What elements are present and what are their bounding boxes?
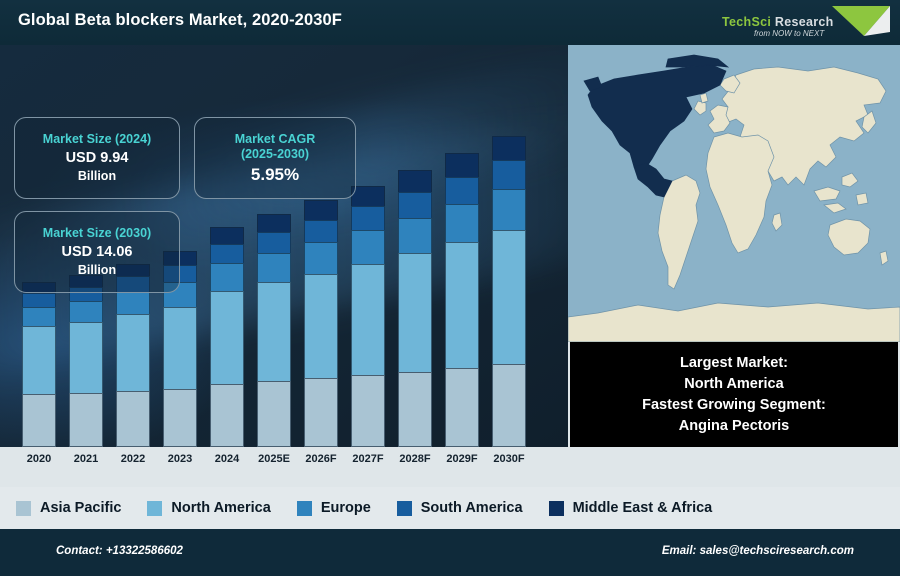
- bar-2025E: [257, 214, 291, 447]
- market-size-2030-box: Market Size (2030) USD 14.06 Billion: [14, 211, 180, 293]
- bar-segment-asia-pacific: [257, 381, 291, 447]
- bar-segment-middle-east-africa: [445, 153, 479, 176]
- bar-segment-south-america: [304, 220, 338, 243]
- bar-segment-asia-pacific: [210, 384, 244, 447]
- infographic-page: Global Beta blockers Market, 2020-2030F …: [0, 0, 900, 576]
- bar-segment-europe: [116, 292, 150, 314]
- bar-segment-europe: [304, 242, 338, 273]
- bar-segment-north-america: [492, 230, 526, 365]
- legend-swatch-icon: [16, 501, 31, 516]
- legend-item-north-america[interactable]: North America: [147, 500, 270, 516]
- bar-segment-europe: [445, 204, 479, 242]
- market-size-2024-value: USD 9.94: [66, 149, 129, 168]
- bar-segment-south-america: [398, 192, 432, 218]
- bar-segment-asia-pacific: [445, 368, 479, 447]
- bar-segment-asia-pacific: [116, 391, 150, 447]
- bar-2027F: [351, 186, 385, 447]
- fastest-segment-label: Fastest Growing Segment:: [642, 395, 826, 416]
- header-bar: Global Beta blockers Market, 2020-2030F …: [0, 0, 900, 45]
- market-size-2030-unit: Billion: [78, 262, 116, 278]
- x-axis-label-2020: 2020: [16, 453, 62, 465]
- legend-swatch-icon: [297, 501, 312, 516]
- bar-2020: [22, 282, 56, 447]
- market-size-2024-box: Market Size (2024) USD 9.94 Billion: [14, 117, 180, 199]
- world-map-svg: [568, 45, 900, 342]
- bar-segment-south-america: [22, 293, 56, 307]
- x-axis-label-2024: 2024: [204, 453, 250, 465]
- techsci-research-logo: TechSci Research from NOW to NEXT: [714, 2, 894, 44]
- bar-2024: [210, 227, 244, 447]
- bar-segment-asia-pacific: [351, 375, 385, 447]
- x-axis-label-2029F: 2029F: [439, 453, 485, 465]
- bar-segment-north-america: [116, 314, 150, 390]
- legend-label: South America: [421, 500, 523, 516]
- largest-market-value: North America: [684, 374, 783, 395]
- market-size-2024-unit: Billion: [78, 168, 116, 184]
- bar-segment-south-america: [210, 244, 244, 264]
- bar-2021: [69, 275, 103, 447]
- market-cagr-box: Market CAGR (2025-2030) 5.95%: [194, 117, 356, 199]
- bar-segment-north-america: [163, 307, 197, 389]
- bar-2029F: [445, 153, 479, 447]
- fastest-segment-value: Angina Pectoris: [679, 416, 789, 437]
- logo-research-text: Research: [771, 15, 833, 29]
- legend-swatch-icon: [397, 501, 412, 516]
- legend-item-middle-east-africa[interactable]: Middle East & Africa: [549, 500, 713, 516]
- bar-segment-europe: [257, 253, 291, 282]
- bar-segment-north-america: [69, 322, 103, 393]
- legend-item-asia-pacific[interactable]: Asia Pacific: [16, 500, 121, 516]
- footer-bar: Contact: +13322586602 Email: sales@techs…: [0, 529, 900, 576]
- chart-legend: Asia PacificNorth AmericaEuropeSouth Ame…: [0, 487, 900, 529]
- logo-wordmark: TechSci Research: [722, 15, 872, 29]
- chart-panel: Market Size (2024) USD 9.94 Billion Mark…: [0, 45, 568, 447]
- legend-item-europe[interactable]: Europe: [297, 500, 371, 516]
- market-cagr-label: Market CAGR: [235, 132, 316, 147]
- bar-segment-middle-east-africa: [304, 200, 338, 219]
- bar-segment-south-america: [492, 160, 526, 189]
- bar-segment-middle-east-africa: [210, 227, 244, 243]
- bar-segment-north-america: [351, 264, 385, 375]
- page-title: Global Beta blockers Market, 2020-2030F: [18, 11, 342, 30]
- bar-segment-north-america: [398, 253, 432, 372]
- bar-segment-north-america: [445, 242, 479, 369]
- bar-segment-middle-east-africa: [398, 170, 432, 192]
- world-map: [568, 45, 900, 342]
- bar-segment-asia-pacific: [304, 378, 338, 447]
- largest-market-label: Largest Market:: [680, 353, 788, 374]
- bar-2030F: [492, 136, 526, 447]
- bar-segment-north-america: [257, 282, 291, 381]
- bar-2028F: [398, 170, 432, 447]
- bar-segment-europe: [398, 218, 432, 253]
- bar-segment-middle-east-africa: [257, 214, 291, 232]
- bar-segment-north-america: [210, 291, 244, 384]
- legend-label: Asia Pacific: [40, 500, 121, 516]
- market-size-2030-value: USD 14.06: [62, 243, 133, 262]
- legend-label: Europe: [321, 500, 371, 516]
- market-cagr-period: (2025-2030): [241, 147, 309, 162]
- market-cagr-value: 5.95%: [251, 165, 299, 185]
- contact-text: Contact: +13322586602: [56, 545, 183, 557]
- bar-segment-middle-east-africa: [492, 136, 526, 160]
- bar-segment-asia-pacific: [492, 364, 526, 447]
- x-axis-labels: 202020212022202320242025E2026F2027F2028F…: [0, 447, 568, 477]
- legend-label: Middle East & Africa: [573, 500, 713, 516]
- legend-item-south-america[interactable]: South America: [397, 500, 523, 516]
- bar-segment-asia-pacific: [163, 389, 197, 447]
- x-axis-label-2022: 2022: [110, 453, 156, 465]
- email-text: Email: sales@techsciresearch.com: [662, 545, 854, 557]
- bar-segment-europe: [69, 301, 103, 321]
- bar-segment-asia-pacific: [22, 394, 56, 447]
- bar-segment-europe: [210, 263, 244, 290]
- bar-segment-asia-pacific: [69, 393, 103, 447]
- x-axis-label-2021: 2021: [63, 453, 109, 465]
- bar-segment-north-america: [22, 326, 56, 394]
- bar-segment-middle-east-africa: [351, 186, 385, 207]
- bar-segment-europe: [492, 189, 526, 229]
- legend-swatch-icon: [549, 501, 564, 516]
- market-highlights-callout: Largest Market: North America Fastest Gr…: [570, 342, 898, 447]
- legend-label: North America: [171, 500, 270, 516]
- bar-segment-south-america: [445, 177, 479, 204]
- bar-segment-south-america: [351, 206, 385, 230]
- market-size-2024-label: Market Size (2024): [43, 132, 151, 147]
- bar-segment-south-america: [257, 232, 291, 253]
- x-axis-label-2025E: 2025E: [251, 453, 297, 465]
- bar-segment-north-america: [304, 274, 338, 379]
- bar-2026F: [304, 200, 338, 447]
- market-size-2030-label: Market Size (2030): [43, 226, 151, 241]
- x-axis-label-2023: 2023: [157, 453, 203, 465]
- x-axis-label-2026F: 2026F: [298, 453, 344, 465]
- bar-segment-asia-pacific: [398, 372, 432, 447]
- legend-swatch-icon: [147, 501, 162, 516]
- logo-tech-text: TechSci: [722, 15, 771, 29]
- logo-tagline: from NOW to NEXT: [754, 29, 884, 38]
- x-axis-label-2028F: 2028F: [392, 453, 438, 465]
- bar-segment-europe: [22, 307, 56, 326]
- bar-segment-europe: [351, 230, 385, 263]
- x-axis-label-2027F: 2027F: [345, 453, 391, 465]
- x-axis-label-2030F: 2030F: [486, 453, 532, 465]
